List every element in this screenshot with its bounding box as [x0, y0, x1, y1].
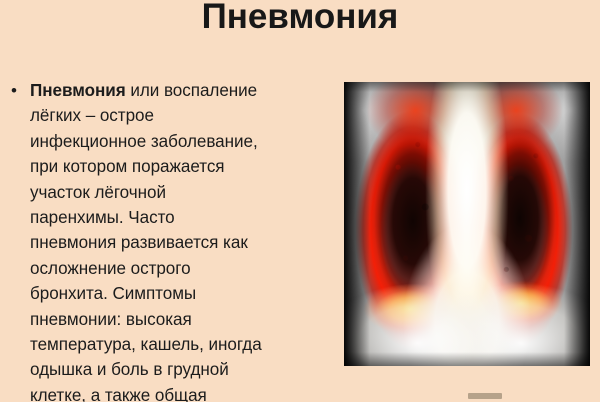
watermark-smudge: [468, 393, 502, 399]
xray-film-vignette: [344, 82, 590, 366]
list-item-text: Пневмония или воспаление лёгких – острое…: [30, 78, 320, 402]
text-line-4: при котором поражается: [30, 154, 320, 179]
text-line-5: участок лёгочной: [30, 180, 320, 205]
bullet-marker-icon: •: [8, 78, 30, 103]
text-line-12: одышка и боль в грудной: [30, 357, 320, 382]
list-item: • Пневмония или воспаление лёгких – остр…: [8, 78, 320, 402]
text-line-7: пневмония развивается как: [30, 230, 320, 255]
slide-root: Пневмония • Пневмония или воспаление лёг…: [0, 0, 600, 402]
text-line-1: или воспаление: [126, 81, 258, 100]
text-line-9: бронхита. Симптомы: [30, 281, 320, 306]
page-title: Пневмония: [0, 0, 600, 37]
text-line-2: лёгких – острое: [30, 103, 320, 128]
content-text-block: • Пневмония или воспаление лёгких – остр…: [8, 78, 320, 402]
text-line-11: температура, кашель, иногда: [30, 332, 320, 357]
text-line-13: клетке, а также общая: [30, 383, 320, 402]
text-line-6: паренхимы. Часто: [30, 205, 320, 230]
text-line-8: осложнение острого: [30, 256, 320, 281]
lead-term: Пневмония: [30, 81, 126, 100]
text-line-10: пневмонии: высокая: [30, 307, 320, 332]
chest-xray-image: [344, 82, 590, 366]
text-line-3: инфекционное заболевание,: [30, 129, 320, 154]
